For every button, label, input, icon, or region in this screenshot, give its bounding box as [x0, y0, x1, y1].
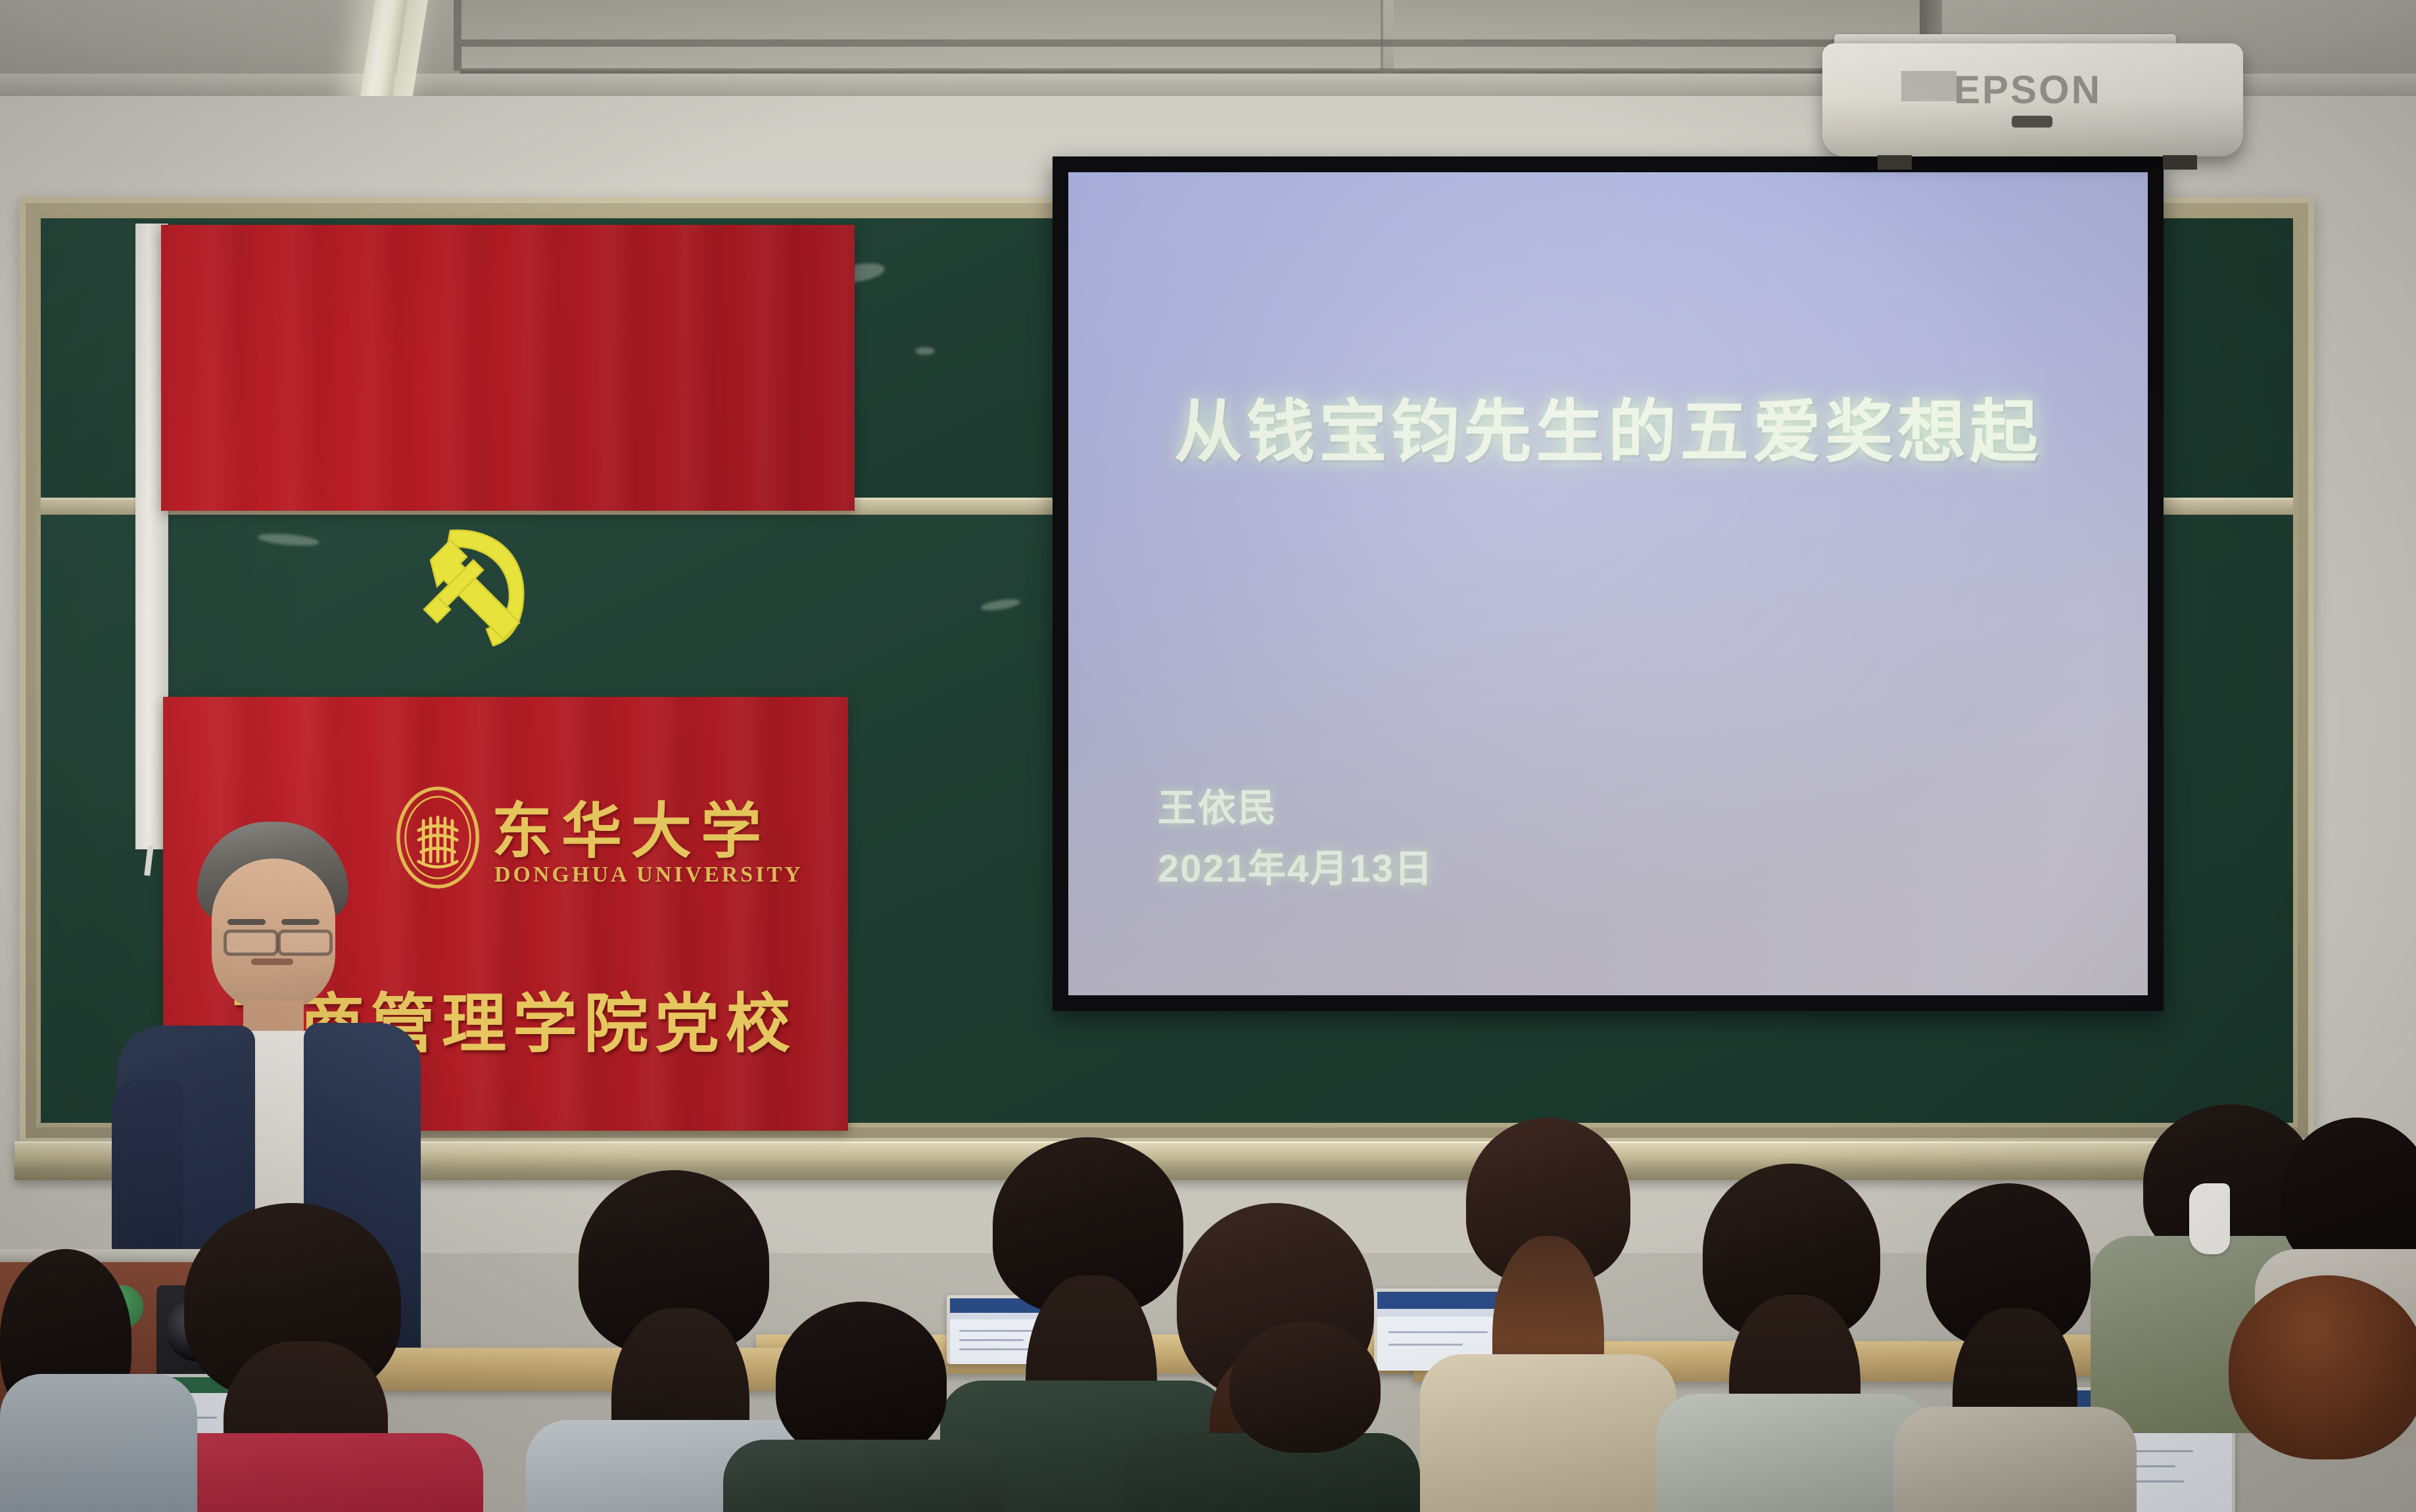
- chalk-mark: [980, 597, 1020, 612]
- audience-head: [776, 1302, 947, 1459]
- face-mask: [2189, 1183, 2230, 1254]
- laptop-text-line: [959, 1348, 1033, 1350]
- audience-body: [1420, 1354, 1676, 1512]
- communist-party-flag: [161, 225, 855, 511]
- projector-vent: [2012, 116, 2052, 128]
- ceiling-beam-vertical: [454, 0, 462, 71]
- projector-brand-label: EPSON: [1954, 67, 2102, 112]
- lecturer-mouth: [251, 958, 293, 965]
- lecturer-eyebrow: [281, 919, 320, 925]
- hammer-and-sickle-icon: [401, 504, 565, 652]
- audience-body: [0, 1374, 197, 1512]
- ceiling-panel: [460, 0, 1383, 74]
- eyeglasses-icon: [277, 930, 333, 956]
- laptop-text-line: [959, 1330, 1037, 1332]
- slide-author: 王依民: [1158, 777, 1278, 832]
- projector-foot: [2163, 155, 2197, 170]
- lecturer-eyebrow: [227, 919, 266, 925]
- ceiling-beam: [460, 39, 1933, 47]
- slide-date: 2021年4月13日: [1158, 838, 1434, 893]
- projector-foot: [1878, 155, 1912, 170]
- audience-body: [723, 1440, 1006, 1512]
- projection-screen: 从钱宝钧先生的五爱奖想起 王依民 2021年4月13日: [1068, 172, 2148, 995]
- eyeglasses-icon: [224, 930, 279, 956]
- university-name-en: DONGHUA UNIVERSITY: [494, 862, 803, 887]
- audience-head-curly: [2229, 1275, 2416, 1459]
- projection-screen-frame: 从钱宝钧先生的五爱奖想起 王依民 2021年4月13日: [1053, 156, 2164, 1011]
- laptop-text-line: [959, 1339, 1024, 1341]
- chalk-mark: [257, 532, 320, 548]
- projector-ceiling-mount: [1920, 0, 1942, 39]
- audience-body: [1657, 1394, 1933, 1512]
- projector-badge-icon: [1901, 71, 1956, 101]
- classroom-lecture-photo: 东华大学 DONGHUA UNIVERSITY 工商管理学院党校 从钱宝钧先生的…: [0, 0, 2416, 1512]
- audience-head-bun: [1229, 1321, 1381, 1453]
- slide-title: 从钱宝钧先生的五爱奖想起: [1068, 376, 2148, 475]
- audience-body: [1893, 1407, 2137, 1512]
- laptop-text-line: [1388, 1344, 1463, 1346]
- chalk-mark: [915, 347, 935, 355]
- lecturer-face: [212, 859, 335, 1011]
- laptop-text-line: [1388, 1331, 1488, 1333]
- university-name-cn: 东华大学: [492, 782, 770, 870]
